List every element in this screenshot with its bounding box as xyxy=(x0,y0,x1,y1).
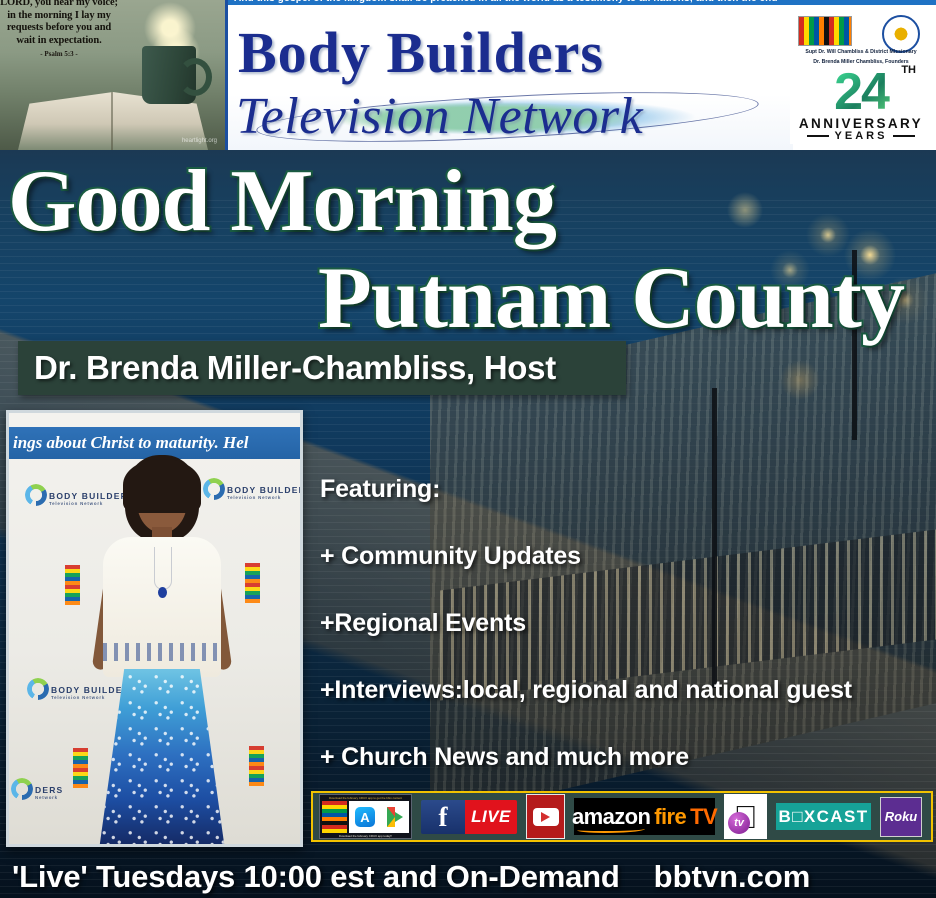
facebook-icon: f xyxy=(421,800,465,834)
apps-bottom-caption: Download the february CRUX app today!! xyxy=(320,834,411,838)
footer-bar: 'Live' Tuesdays 10:00 est and On-Demand … xyxy=(0,855,936,898)
psalm-panel: LORD, you hear my voice; in the morning … xyxy=(0,0,225,150)
pendant-icon xyxy=(158,587,167,598)
watermark-subtitle: Network xyxy=(35,795,63,800)
amazon-firetv-logo[interactable]: amazon fire TV xyxy=(574,798,715,835)
platform-logos-bar: Download the february CRUX app to get th… xyxy=(311,791,933,842)
featuring-item: +Regional Events xyxy=(320,609,526,638)
mobile-apps-promo[interactable]: Download the february CRUX app to get th… xyxy=(319,794,412,839)
poster-root: LORD, you hear my voice; in the morning … xyxy=(0,0,936,898)
tv-badge-icon: tv xyxy=(728,812,750,834)
featuring-item: + Church News and much more xyxy=(320,743,689,772)
host-name-text: Dr. Brenda Miller-Chambliss, Host xyxy=(18,349,556,387)
amazon-wordmark: amazon xyxy=(572,804,650,830)
title-line-2: Putnam County xyxy=(318,255,904,343)
tv-wordmark: TV xyxy=(690,804,717,830)
anniversary-years-row: YEARS xyxy=(790,130,932,142)
flag-strip-icon xyxy=(65,565,80,605)
anniversary-ordinal: TH xyxy=(901,64,916,76)
world-flags-icon xyxy=(322,801,347,833)
watermark-subtitle: Television Network xyxy=(227,495,303,500)
youtube-icon[interactable] xyxy=(526,794,565,839)
apple-tv-logo[interactable]:  tv xyxy=(724,794,767,839)
body-builders-logo: Body Builders Television Network xyxy=(228,11,793,150)
featuring-heading: Featuring: xyxy=(320,475,440,504)
featuring-item: +Interviews:local, regional and national… xyxy=(320,676,852,705)
photo-watermark-logo: BODY BUILDERS Television Network xyxy=(227,485,303,500)
anniversary-years: YEARS xyxy=(835,130,888,142)
youtube-play-glyph xyxy=(533,808,559,826)
rule-left xyxy=(807,135,829,137)
facebook-live-label: LIVE xyxy=(465,800,517,834)
host-portrait-figure xyxy=(97,455,227,847)
schedule-text: 'Live' Tuesdays 10:00 est and On-Demand xyxy=(0,859,620,895)
hair-front-shape xyxy=(123,459,201,513)
watermark-title: BODY BUILDERS xyxy=(227,485,303,495)
necklace-icon xyxy=(154,547,172,590)
roku-logo[interactable]: Roku xyxy=(880,797,922,837)
host-photo: ings about Christ to maturity. Hel BODY … xyxy=(6,410,303,847)
boxcast-logo[interactable]: B□XCAST xyxy=(776,803,871,830)
photo-watermark-logo: DERS Network xyxy=(35,785,63,800)
psalm-credit: heartlight.org xyxy=(182,138,217,144)
featuring-item: + Community Updates xyxy=(320,542,581,571)
rule-right xyxy=(893,135,915,137)
website-text[interactable]: bbtvn.com xyxy=(654,859,811,895)
app-store-icon[interactable]: A xyxy=(355,807,375,827)
organization-seal-icon xyxy=(882,15,920,53)
founders-line-1: Supt Dr. Will Chambliss & District Missi… xyxy=(790,49,932,55)
scripture-ticker: And this gospel of the kingdom shall be … xyxy=(228,0,936,5)
watermark-title: DERS xyxy=(35,785,63,795)
world-flags-icon xyxy=(798,16,852,46)
psalm-reference: - Psalm 5:3 - xyxy=(0,50,118,58)
blue-skirt-shape xyxy=(99,669,225,847)
fire-wordmark: fire xyxy=(654,804,686,830)
flag-strip-icon xyxy=(245,563,260,603)
logo-line-1: Body Builders xyxy=(238,19,604,86)
anniversary-badge: Supt Dr. Will Chambliss & District Missi… xyxy=(790,12,932,144)
google-play-icon[interactable] xyxy=(387,807,403,827)
flag-strip-icon xyxy=(73,748,88,788)
coffee-mug-icon xyxy=(142,46,196,104)
facebook-live-logo[interactable]: f LIVE xyxy=(421,800,517,834)
host-name-bar: Dr. Brenda Miller-Chambliss, Host xyxy=(18,341,626,395)
logo-line-2: Television Network xyxy=(236,87,643,146)
psalm-quote-text: LORD, you hear my voice; in the morning … xyxy=(0,0,118,47)
network-banner: And this gospel of the kingdom shall be … xyxy=(225,0,936,150)
store-badges: A xyxy=(349,801,409,833)
flag-strip-icon xyxy=(249,746,264,786)
title-line-1: Good Morning xyxy=(8,158,556,246)
anniversary-word: ANNIVERSARY xyxy=(790,116,932,131)
lamp-post-icon xyxy=(712,388,717,688)
apps-row: A xyxy=(320,800,411,834)
